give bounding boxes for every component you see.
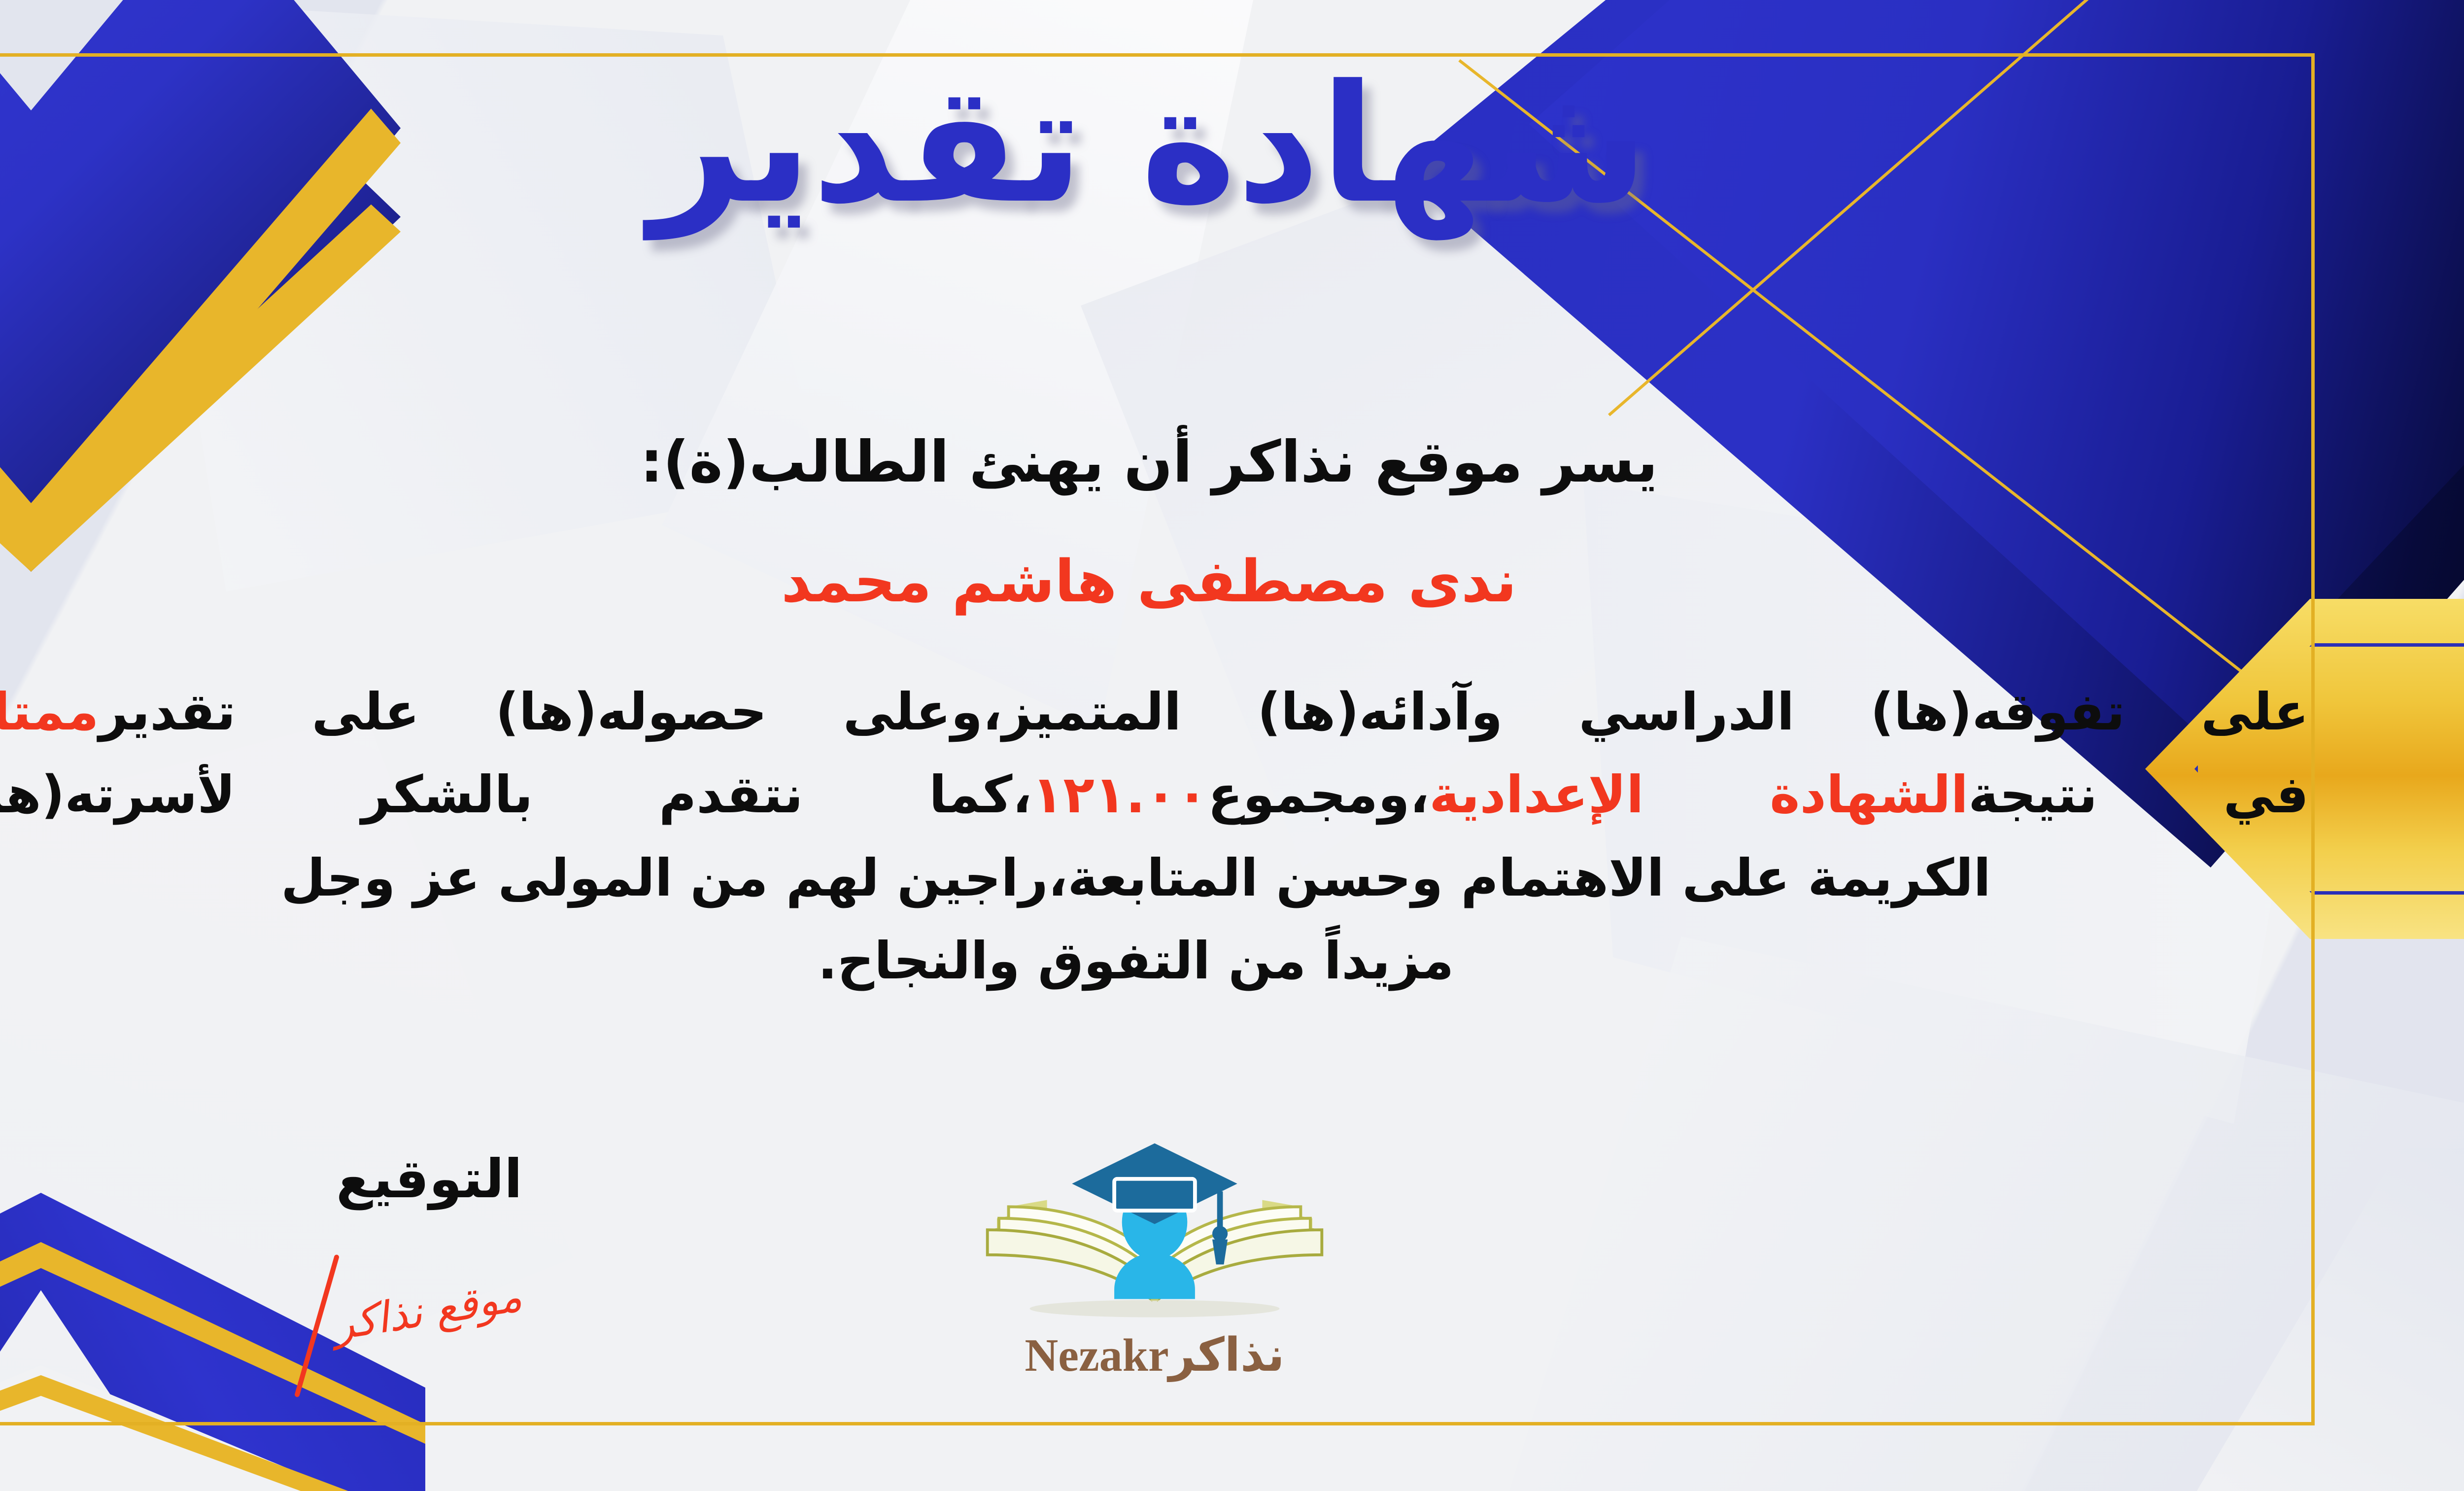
body-line-1: على تفوقه(ها) الدراسي وآدائه(ها) المتميز…	[0, 670, 2309, 753]
grade-value: ممتاز	[0, 682, 99, 742]
body-line-2: في نتيجةالشهادة الإعدادية،ومجموع١٢١.٠٠،ك…	[0, 753, 2309, 836]
logo-name-latin: Nezakr	[1025, 1330, 1168, 1381]
certificate-title: شهادة تقدير	[0, 59, 2464, 230]
signature-label: التوقيع	[336, 1148, 522, 1210]
body-line-1-text: على تفوقه(ها) الدراسي وآدائه(ها) المتميز…	[99, 682, 2309, 742]
certificate-body: على تفوقه(ها) الدراسي وآدائه(ها) المتميز…	[0, 670, 2309, 1003]
logo-name-arabic: نذاكر	[1169, 1328, 1285, 1382]
logo-wordmark: نذاكرNezakr	[962, 1328, 1347, 1382]
certificate-canvas: شهادة تقدير يسر موقع نذاكر أن يهنئ الطال…	[0, 0, 2464, 1491]
body-line-4: مزيداً من التفوق والنجاح.	[0, 919, 2309, 1002]
graduation-book-icon	[962, 1134, 1347, 1331]
signature-stroke	[294, 1254, 340, 1397]
signature-script: موقع نذاكر	[330, 1272, 525, 1350]
body-line-2-suffix: ،كما نتقدم بالشكر لأسرته(ها)	[0, 764, 1032, 825]
total-score: ١٢١.٠٠	[1032, 764, 1208, 825]
body-line-2-prefix: في نتيجة	[1968, 764, 2309, 825]
body-line-3: الكريمة على الاهتمام وحسن المتابعة،راجين…	[0, 836, 2309, 919]
student-name: ندى مصطفى هاشم محمد	[0, 547, 2464, 615]
body-line-2-mid: ،ومجموع	[1208, 764, 1429, 825]
site-logo: نذاكرNezakr	[962, 1134, 1347, 1410]
certificate-content: شهادة تقدير يسر موقع نذاكر أن يهنئ الطال…	[0, 0, 2464, 1491]
exam-name: الشهادة الإعدادية	[1429, 764, 1968, 825]
greeting-line: يسر موقع نذاكر أن يهنئ الطالب(ة):	[0, 429, 2464, 495]
